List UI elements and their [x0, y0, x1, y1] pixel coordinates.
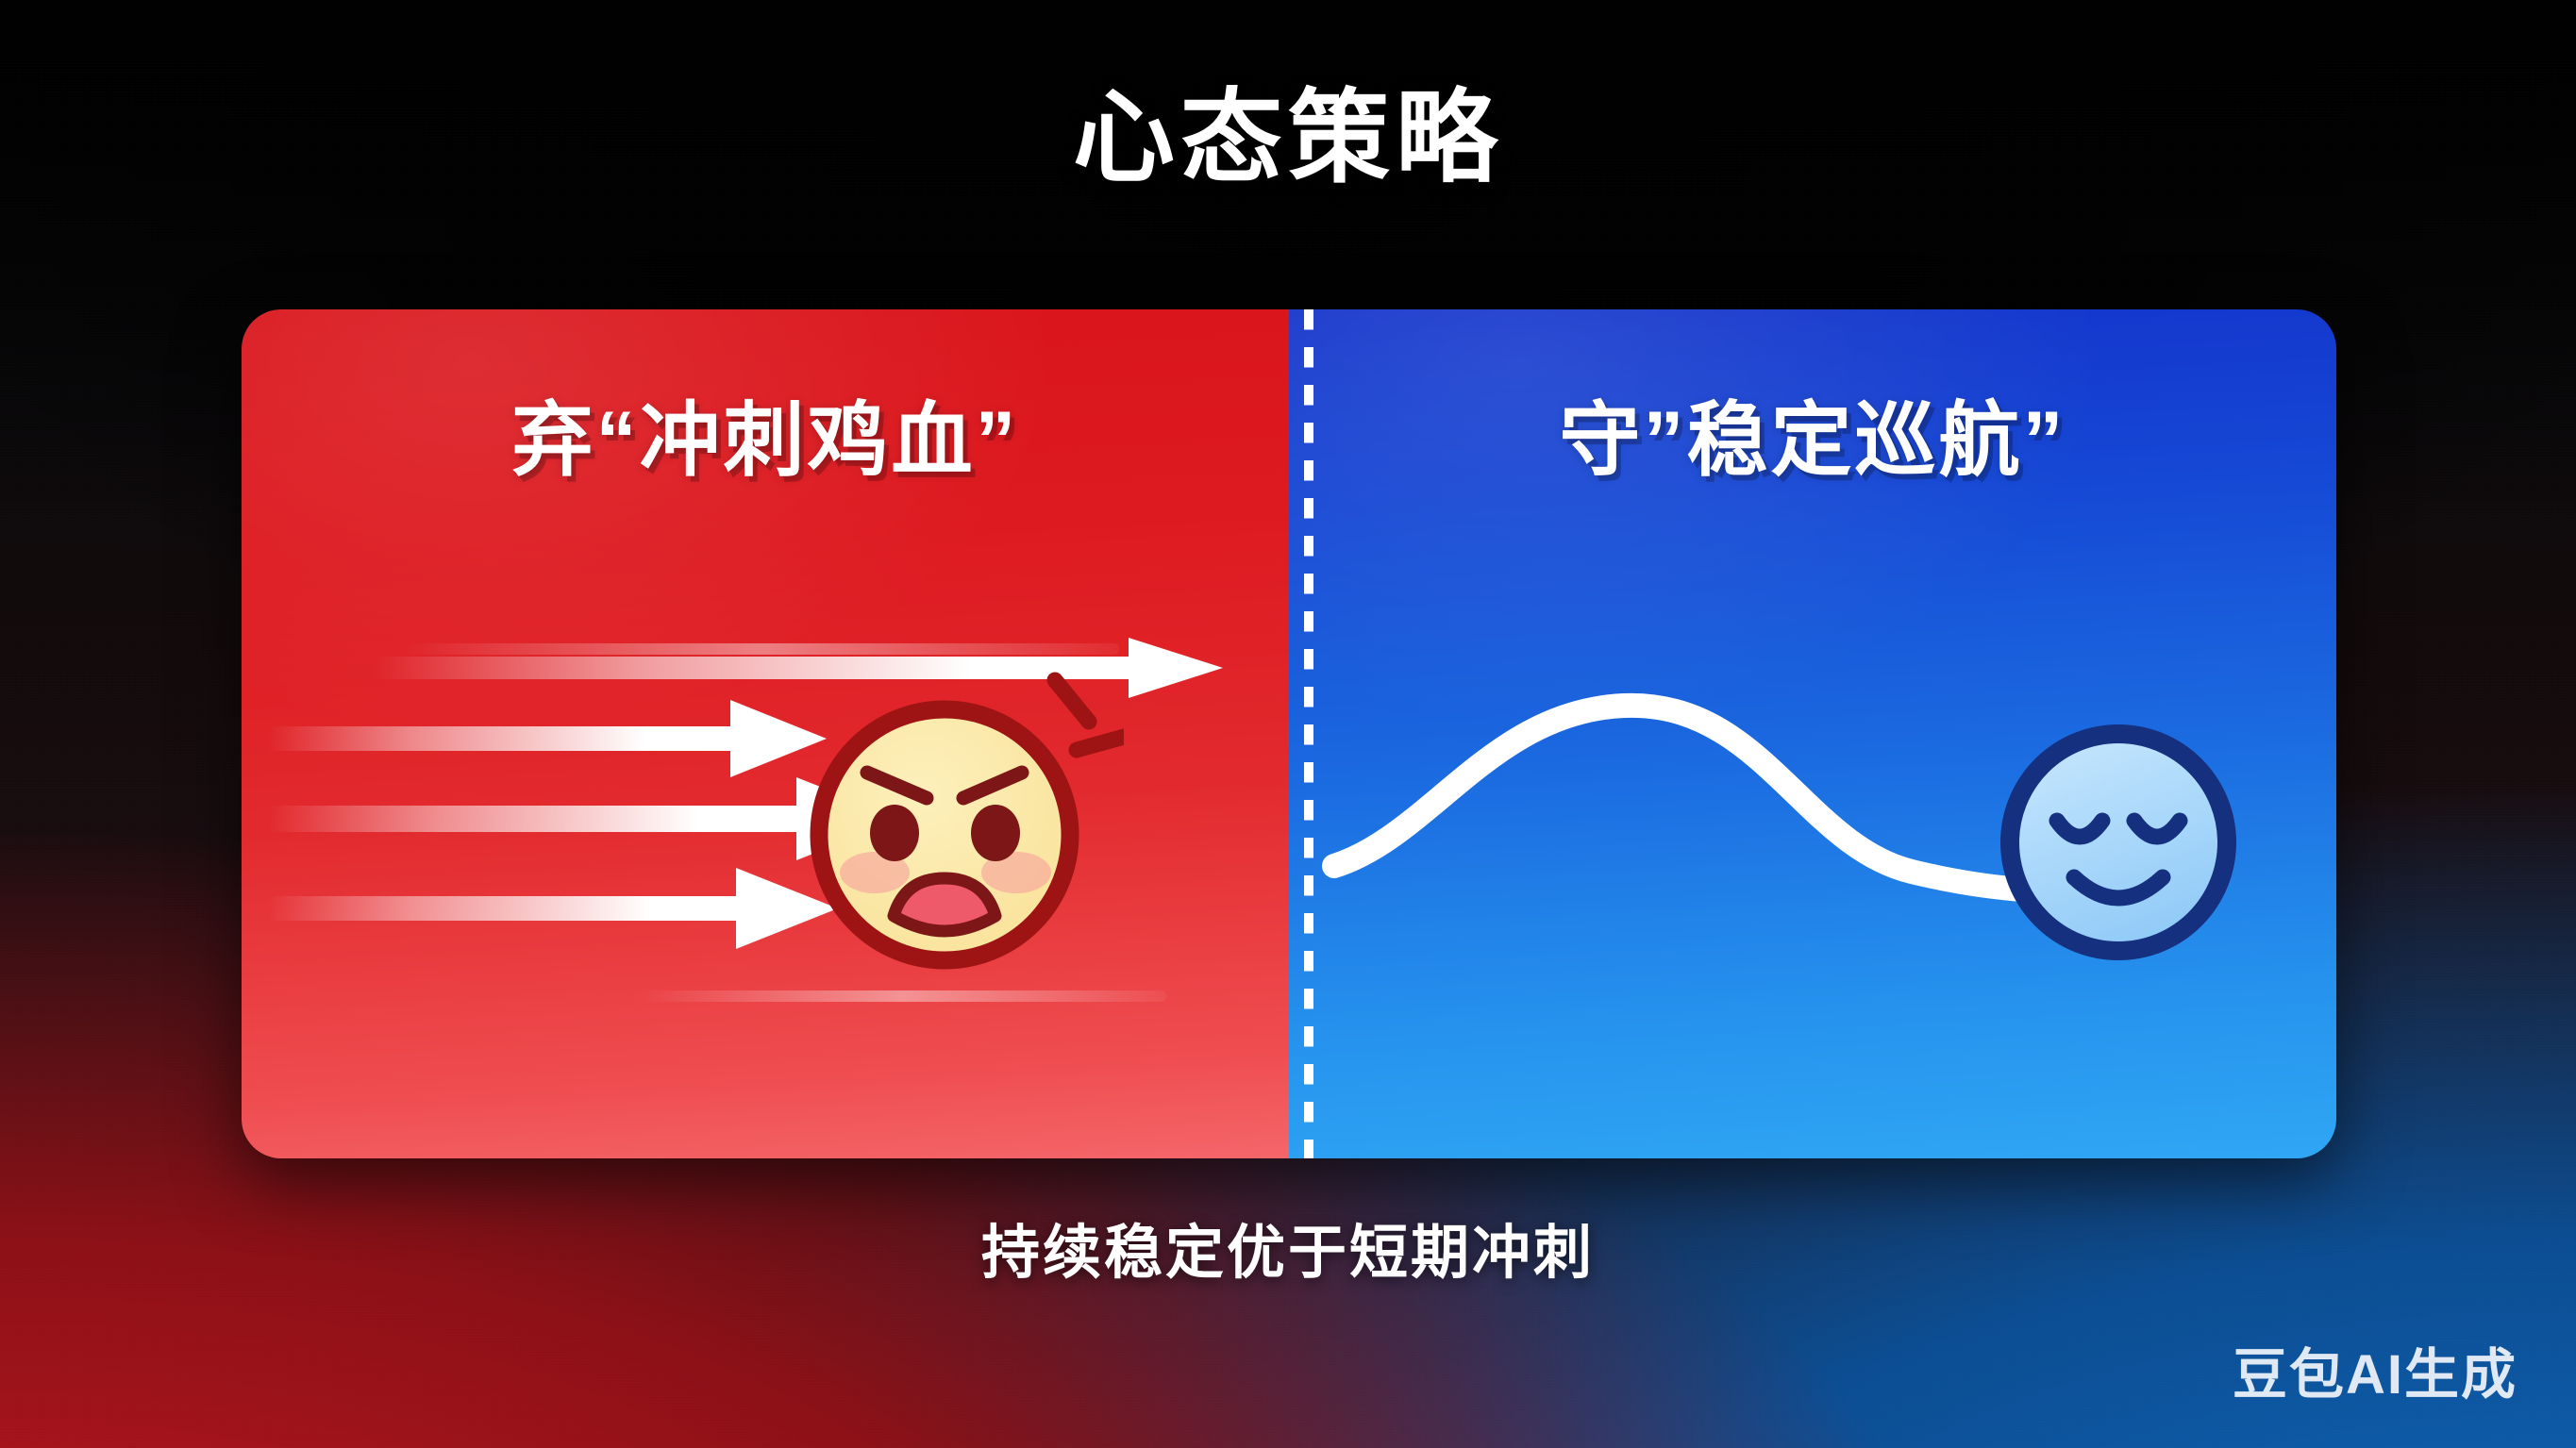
- calm-face-circle: [2010, 734, 2227, 951]
- panel-right-heading: 守”稳定巡航”: [1289, 400, 2336, 481]
- panel-left-rush: 弃“冲刺鸡血”: [242, 309, 1289, 1158]
- rush-arrows-illustration: [242, 621, 1289, 1036]
- rush-arrow-4: [268, 868, 838, 949]
- calm-face: [1991, 715, 2246, 970]
- panel-divider-dashed: [1304, 309, 1313, 1158]
- speed-streak-top: [402, 643, 1119, 655]
- mouth-open-frown: [894, 878, 995, 931]
- rush-arrow-2: [268, 700, 827, 777]
- caption-text: 持续稳定优于短期冲刺: [0, 1224, 2576, 1283]
- slide-canvas: 心态策略 弃“冲刺鸡血”: [0, 0, 2576, 1448]
- watermark-label: 豆包AI生成: [2233, 1348, 2517, 1403]
- comparison-card: 弃“冲刺鸡血”: [242, 309, 2336, 1158]
- panel-right-cruise: 守”稳定巡航”: [1289, 309, 2336, 1158]
- page-title: 心态策略: [0, 87, 2576, 189]
- eye-right: [971, 805, 1020, 861]
- anger-mark-1: [1055, 680, 1089, 722]
- rush-arrows-svg: [242, 621, 1289, 1036]
- anger-mark-icons: [1055, 680, 1124, 750]
- eye-left: [870, 805, 919, 861]
- anger-mark-2: [1077, 737, 1124, 750]
- panel-left-heading: 弃“冲刺鸡血”: [242, 400, 1289, 481]
- angry-face: [794, 663, 1124, 993]
